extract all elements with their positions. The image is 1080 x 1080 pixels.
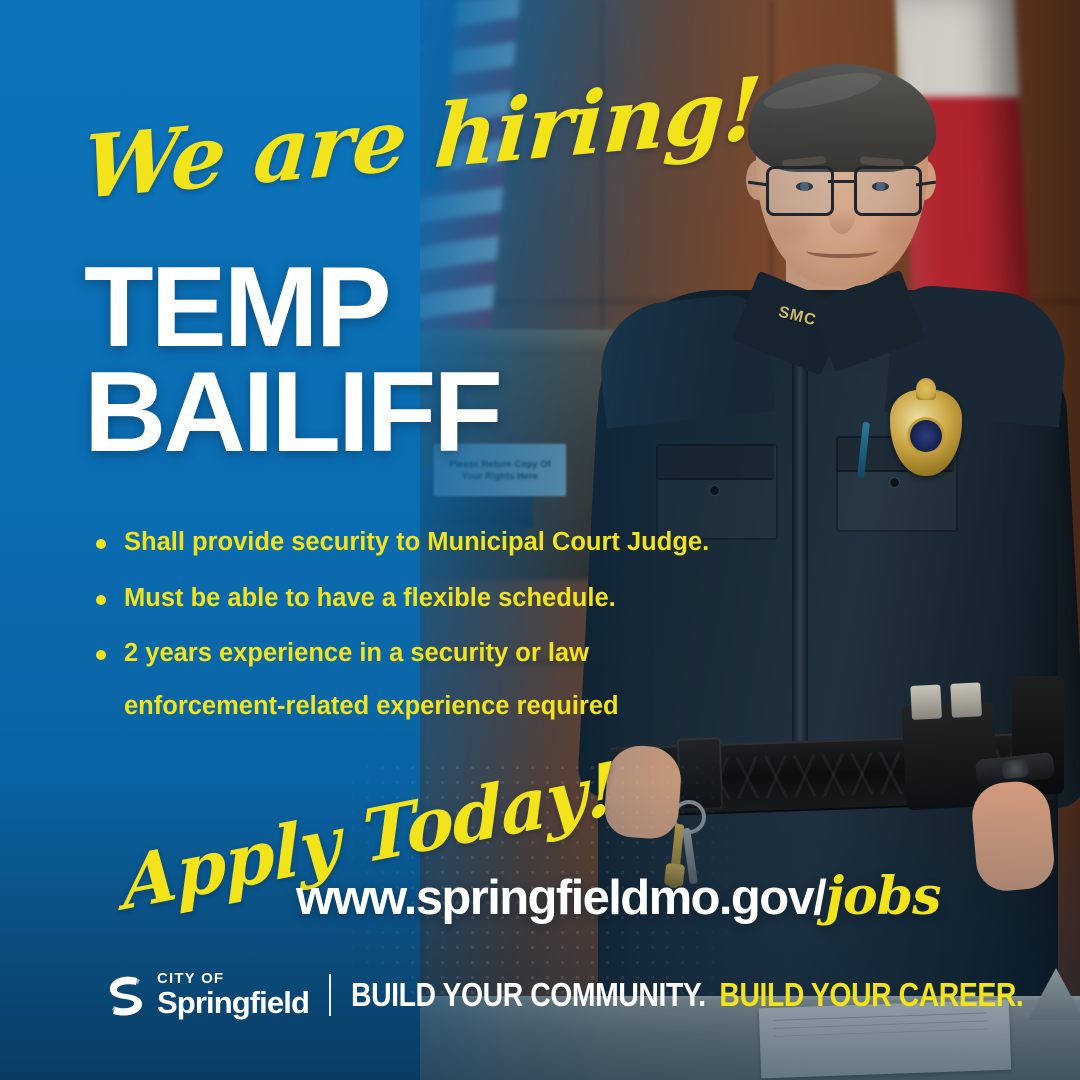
poster-content: We are hiring! TEMP BAILIFF Shall provid… (0, 0, 1080, 1080)
requirement-item: 2 years experience in a security or law … (88, 641, 828, 719)
logo-springfield: Springfield (157, 987, 309, 1018)
footer-bar: CITY OF Springfield BUILD YOUR COMMUNITY… (104, 971, 1080, 1018)
city-logo: CITY OF Springfield (104, 971, 309, 1018)
tagline-community: BUILD YOUR COMMUNITY. (351, 976, 706, 1013)
requirement-item: Shall provide security to Municipal Cour… (88, 530, 828, 556)
requirement-text: Shall provide security to Municipal Cour… (124, 528, 709, 556)
tagline-career: BUILD YOUR CAREER. (719, 976, 1023, 1013)
apply-url-base: www.springfieldmo.gov/ (296, 871, 825, 925)
footer-tagline: BUILD YOUR COMMUNITY.BUILD YOUR CAREER. (351, 976, 1023, 1014)
requirement-text: 2 years experience in a security or law (124, 639, 589, 667)
apply-url[interactable]: www.springfieldmo.gov/jobs (296, 866, 940, 927)
requirement-text: Must be able to have a flexible schedule… (124, 584, 616, 612)
recruitment-poster: Please Return Copy Of Your Rights Here S… (0, 0, 1080, 1080)
city-logo-text: CITY OF Springfield (157, 971, 309, 1018)
requirements-list: Shall provide security to Municipal Cour… (88, 530, 828, 719)
logo-city-of: CITY OF (157, 971, 309, 986)
apply-url-path: jobs (825, 866, 940, 927)
hiring-eyebrow: We are hiring! (80, 66, 763, 212)
requirement-text-line2: enforcement-related experience required (124, 694, 828, 720)
springfield-s-mark-icon (104, 972, 148, 1018)
job-title-line1: TEMP (84, 256, 500, 361)
job-title: TEMP BAILIFF (84, 256, 500, 466)
requirement-item: Must be able to have a flexible schedule… (88, 586, 828, 612)
footer-divider (329, 974, 331, 1016)
job-title-line2: BAILIFF (84, 361, 500, 466)
